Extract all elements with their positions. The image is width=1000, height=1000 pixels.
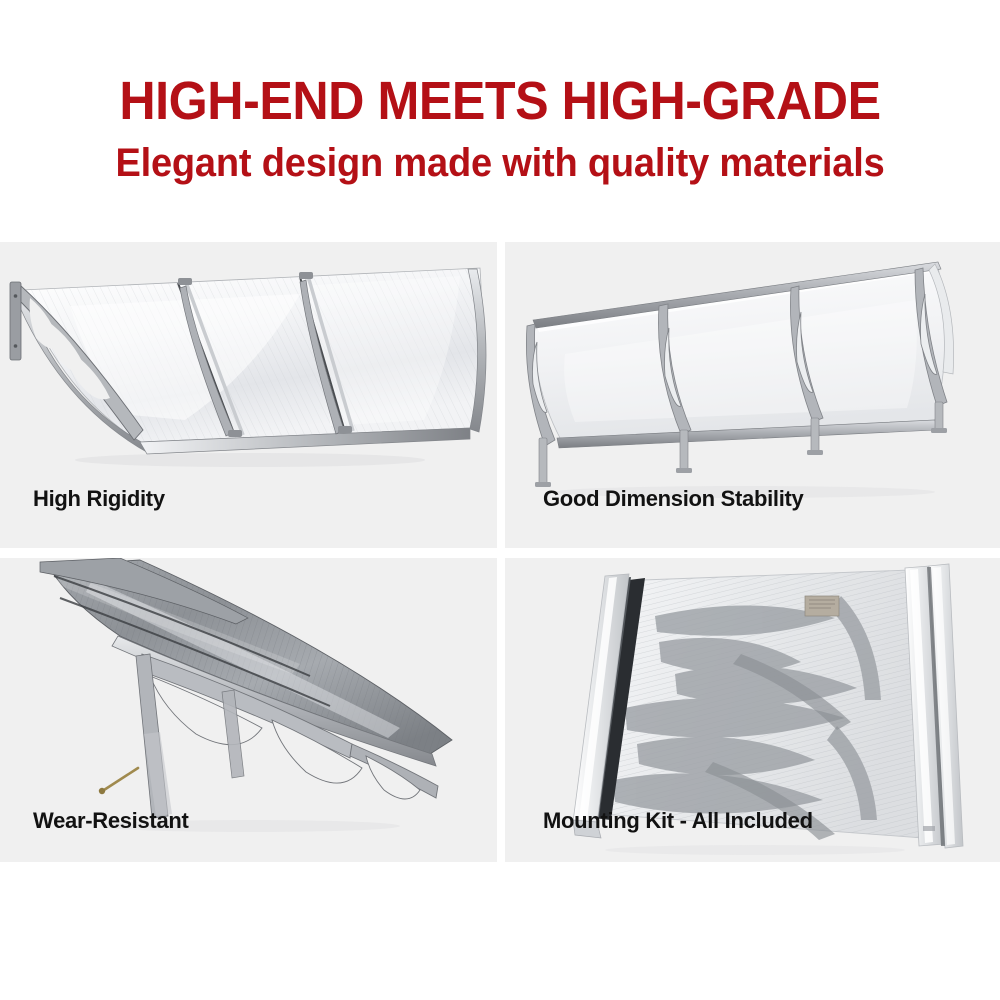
feature-panel-mounting-kit[interactable]: Mounting Kit - All Included bbox=[505, 558, 1000, 862]
feature-label-high-rigidity: High Rigidity bbox=[33, 486, 165, 512]
page-title: HIGH-END MEETS HIGH-GRADE bbox=[35, 72, 965, 130]
feature-panel-good-dimension-stability[interactable]: Good Dimension Stability bbox=[505, 242, 1000, 548]
feature-panel-high-rigidity[interactable]: High Rigidity bbox=[0, 242, 497, 548]
feature-label-wear-resistant: Wear-Resistant bbox=[33, 808, 189, 834]
feature-panel-wear-resistant[interactable]: Wear-Resistant bbox=[0, 558, 497, 862]
feature-label-mounting-kit: Mounting Kit - All Included bbox=[543, 808, 813, 834]
page-subtitle: Elegant design made with quality materia… bbox=[25, 140, 975, 186]
marketing-banner: HIGH-END MEETS HIGH-GRADE Elegant design… bbox=[0, 0, 1000, 1000]
feature-grid: High Rigidity bbox=[0, 242, 1000, 862]
header: HIGH-END MEETS HIGH-GRADE Elegant design… bbox=[0, 0, 1000, 240]
feature-label-good-dimension-stability: Good Dimension Stability bbox=[543, 486, 804, 512]
